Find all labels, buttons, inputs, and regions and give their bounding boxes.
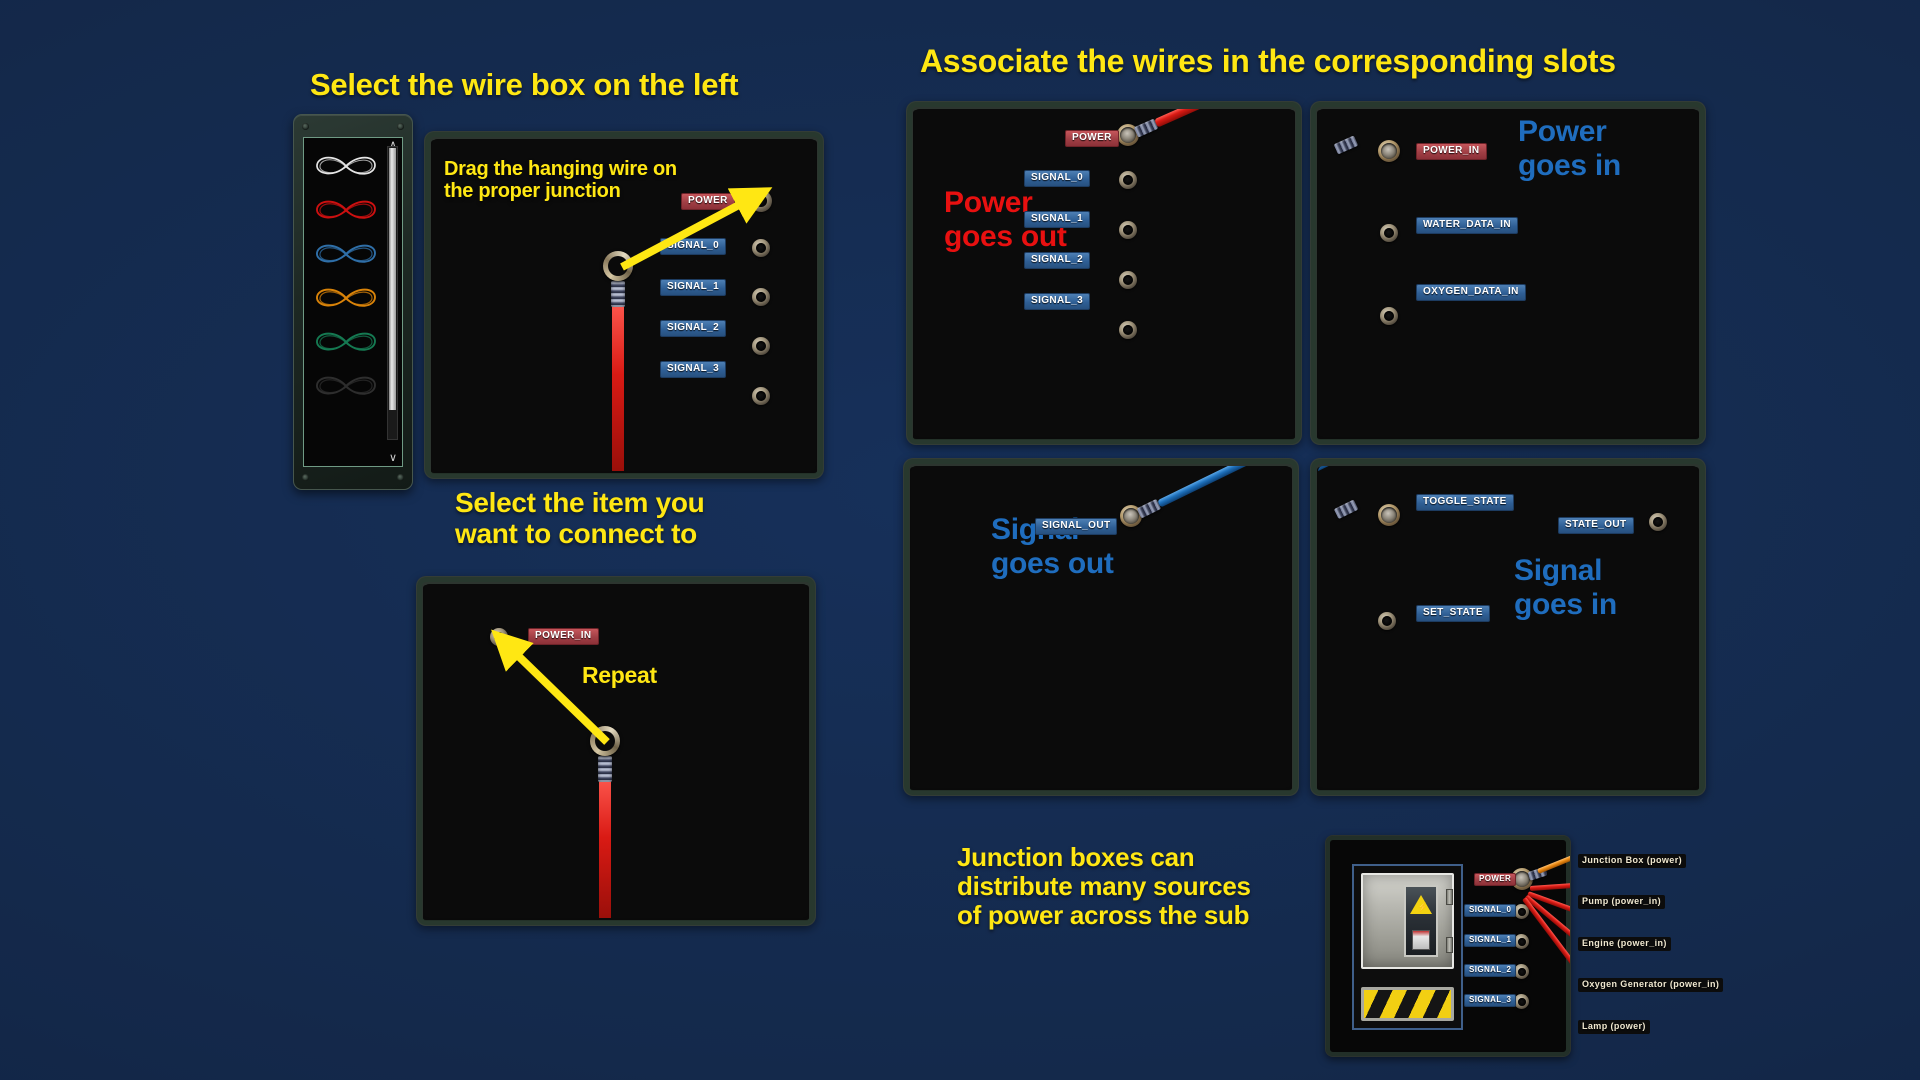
wire-ferrule <box>1334 500 1359 520</box>
socket-signal-0[interactable] <box>752 239 770 257</box>
annotation-power-goes-in: Power goes in <box>1518 115 1621 182</box>
socket-signal-3[interactable] <box>752 387 770 405</box>
panel-screen: Power goes out POWER SIGNAL_0 SIGNAL_1 S… <box>914 109 1294 437</box>
conn-label-power: POWER <box>1065 130 1119 147</box>
caption-drag-hanging-wire: Drag the hanging wire on the proper junc… <box>444 158 677 203</box>
conn-label-signal-1: SIGNAL_1 <box>1024 211 1090 228</box>
conn-label-signal-2: SIGNAL_2 <box>1024 252 1090 269</box>
list-item[interactable] <box>314 328 378 356</box>
socket-set-state[interactable] <box>1378 612 1396 630</box>
list-item[interactable] <box>314 240 378 268</box>
connected-blue-wire[interactable] <box>1318 466 1337 500</box>
conn-label-signal-1: SIGNAL_1 <box>660 279 726 296</box>
screw-icon <box>397 474 404 481</box>
socket-power-in[interactable] <box>490 628 508 646</box>
socket-oxygen-data-in[interactable] <box>1380 307 1398 325</box>
conn-label-signal-0: SIGNAL_0 <box>660 238 726 255</box>
wire-ring[interactable] <box>590 726 620 756</box>
plug-icon <box>1122 129 1133 140</box>
screw-icon <box>302 474 309 481</box>
plug-icon <box>1125 510 1136 521</box>
hanging-red-wire[interactable] <box>612 299 624 471</box>
conn-label-power-in: POWER_IN <box>1416 143 1487 160</box>
fan-wire-junction-box[interactable] <box>1537 852 1571 874</box>
orange-wire-coil-icon <box>314 284 378 312</box>
target-label-pump: Pump (power_in) <box>1578 895 1665 909</box>
annotation-signal-goes-in: Signal goes in <box>1514 554 1617 621</box>
list-item[interactable] <box>314 196 378 224</box>
black-wire-coil-icon <box>314 372 378 400</box>
screw-icon <box>397 123 404 130</box>
socket-toggle-state[interactable] <box>1378 504 1400 526</box>
green-wire-coil-icon <box>314 328 378 356</box>
socket-signal-3[interactable] <box>1119 321 1137 339</box>
socket-signal-1[interactable] <box>752 288 770 306</box>
wire-slot-list[interactable]: ∧ <box>303 137 403 467</box>
cabinet-window <box>1404 885 1438 957</box>
caption-repeat: Repeat <box>582 663 657 689</box>
conn-label-power: POWER <box>681 193 735 210</box>
panel-screen: Drag the hanging wire on the proper junc… <box>432 139 816 471</box>
conn-label-signal-3: SIGNAL_3 <box>1464 994 1516 1007</box>
tutorial-stage: Select the wire box on the left ∧ <box>0 0 1920 1080</box>
plug-icon <box>1383 145 1394 156</box>
conn-label-signal-out: SIGNAL_OUT <box>1035 518 1117 535</box>
conn-label-signal-2: SIGNAL_2 <box>660 320 726 337</box>
panel-screen: Signal goes out SIGNAL_OUT <box>911 466 1291 788</box>
caption-select-item: Select the item you want to connect to <box>455 487 705 550</box>
wire-ferrule <box>1334 135 1359 154</box>
panel-screen: Signal goes in TOGGLE_STATE STATE_OUT SE… <box>1318 466 1698 788</box>
hinge-icon <box>1446 889 1453 905</box>
caption-select-wire-box: Select the wire box on the left <box>310 68 738 103</box>
red-wire-coil-icon <box>314 196 378 224</box>
blue-wire-coil-icon <box>314 240 378 268</box>
scroll-down-icon[interactable]: ∨ <box>389 453 397 464</box>
plug-icon <box>1383 509 1394 520</box>
scrollbar-thumb[interactable] <box>389 148 396 410</box>
conn-label-signal-0: SIGNAL_0 <box>1464 904 1516 917</box>
screw-icon <box>302 123 309 130</box>
cabinet-door <box>1361 873 1454 969</box>
conn-label-signal-1: SIGNAL_1 <box>1464 934 1516 947</box>
hinge-icon <box>1446 937 1453 953</box>
connected-blue-wire[interactable] <box>1157 466 1286 508</box>
list-item[interactable] <box>314 372 378 400</box>
target-label-lamp: Lamp (power) <box>1578 1020 1650 1034</box>
junction-box-cabinet <box>1352 864 1463 1030</box>
power-goes-in-panel[interactable]: Power goes in POWER_IN WATER_DATA_IN OXY… <box>1310 101 1706 445</box>
conn-label-signal-2: SIGNAL_2 <box>1464 964 1516 977</box>
plug-icon <box>1516 873 1527 884</box>
socket-signal-2[interactable] <box>1514 964 1529 979</box>
target-label-oxygen-generator: Oxygen Generator (power_in) <box>1578 978 1723 992</box>
socket-signal-3[interactable] <box>1514 994 1529 1009</box>
list-item[interactable] <box>314 284 378 312</box>
conn-label-water-data-in: WATER_DATA_IN <box>1416 217 1518 234</box>
connected-red-wire[interactable] <box>1154 109 1287 128</box>
conn-label-power-in: POWER_IN <box>528 628 599 645</box>
signal-goes-out-panel[interactable]: Signal goes out SIGNAL_OUT <box>903 458 1299 796</box>
white-wire-coil-icon <box>314 152 378 180</box>
wire-ring[interactable] <box>603 251 633 281</box>
wire-list-scrollbar[interactable] <box>387 146 398 440</box>
hanging-red-wire[interactable] <box>599 774 611 918</box>
socket-state-out[interactable] <box>1649 513 1667 531</box>
power-goes-out-panel[interactable]: Power goes out POWER SIGNAL_0 SIGNAL_1 S… <box>906 101 1302 445</box>
panel-screen: Power goes in POWER_IN WATER_DATA_IN OXY… <box>1318 109 1698 437</box>
conn-label-power: POWER <box>1474 873 1516 886</box>
junction-box-panel[interactable]: POWER SIGNAL_0 SIGNAL_1 SIGNAL_2 SIGNAL_… <box>1325 835 1571 1057</box>
hazard-stripe <box>1361 987 1454 1021</box>
conn-label-signal-3: SIGNAL_3 <box>1024 293 1090 310</box>
socket-signal-1[interactable] <box>1514 934 1529 949</box>
socket-signal-0[interactable] <box>1119 171 1137 189</box>
panel-screen: POWER_IN Repeat <box>424 584 808 918</box>
socket-water-data-in[interactable] <box>1380 224 1398 242</box>
high-voltage-icon <box>1410 895 1432 914</box>
caption-associate-wires: Associate the wires in the corresponding… <box>920 44 1616 80</box>
socket-signal-1[interactable] <box>1119 221 1137 239</box>
conn-label-set-state: SET_STATE <box>1416 605 1490 622</box>
conn-label-oxygen-data-in: OXYGEN_DATA_IN <box>1416 284 1526 301</box>
socket-power-in[interactable] <box>1378 140 1400 162</box>
caption-junction-boxes: Junction boxes can distribute many sourc… <box>957 843 1251 930</box>
target-label-junction-box: Junction Box (power) <box>1578 854 1686 868</box>
connected-red-wire[interactable] <box>1318 109 1338 138</box>
socket-signal-2[interactable] <box>752 337 770 355</box>
drag-hanging-wire-panel[interactable]: Drag the hanging wire on the proper junc… <box>424 131 824 479</box>
repeat-connect-panel[interactable]: POWER_IN Repeat <box>416 576 816 926</box>
conn-label-signal-3: SIGNAL_3 <box>660 361 726 378</box>
socket-power[interactable] <box>750 190 772 212</box>
signal-goes-in-panel[interactable]: Signal goes in TOGGLE_STATE STATE_OUT SE… <box>1310 458 1706 796</box>
fan-wire-pump[interactable] <box>1530 882 1571 891</box>
socket-signal-2[interactable] <box>1119 271 1137 289</box>
fuse-icon <box>1412 930 1430 950</box>
wire-crimp <box>611 281 625 307</box>
wire-crimp <box>598 756 612 782</box>
conn-label-signal-0: SIGNAL_0 <box>1024 170 1090 187</box>
wire-inventory-box[interactable]: ∧ <box>293 114 413 490</box>
conn-label-state-out: STATE_OUT <box>1558 517 1634 534</box>
target-label-engine: Engine (power_in) <box>1578 937 1671 951</box>
list-item[interactable] <box>314 152 378 180</box>
conn-label-toggle-state: TOGGLE_STATE <box>1416 494 1514 511</box>
